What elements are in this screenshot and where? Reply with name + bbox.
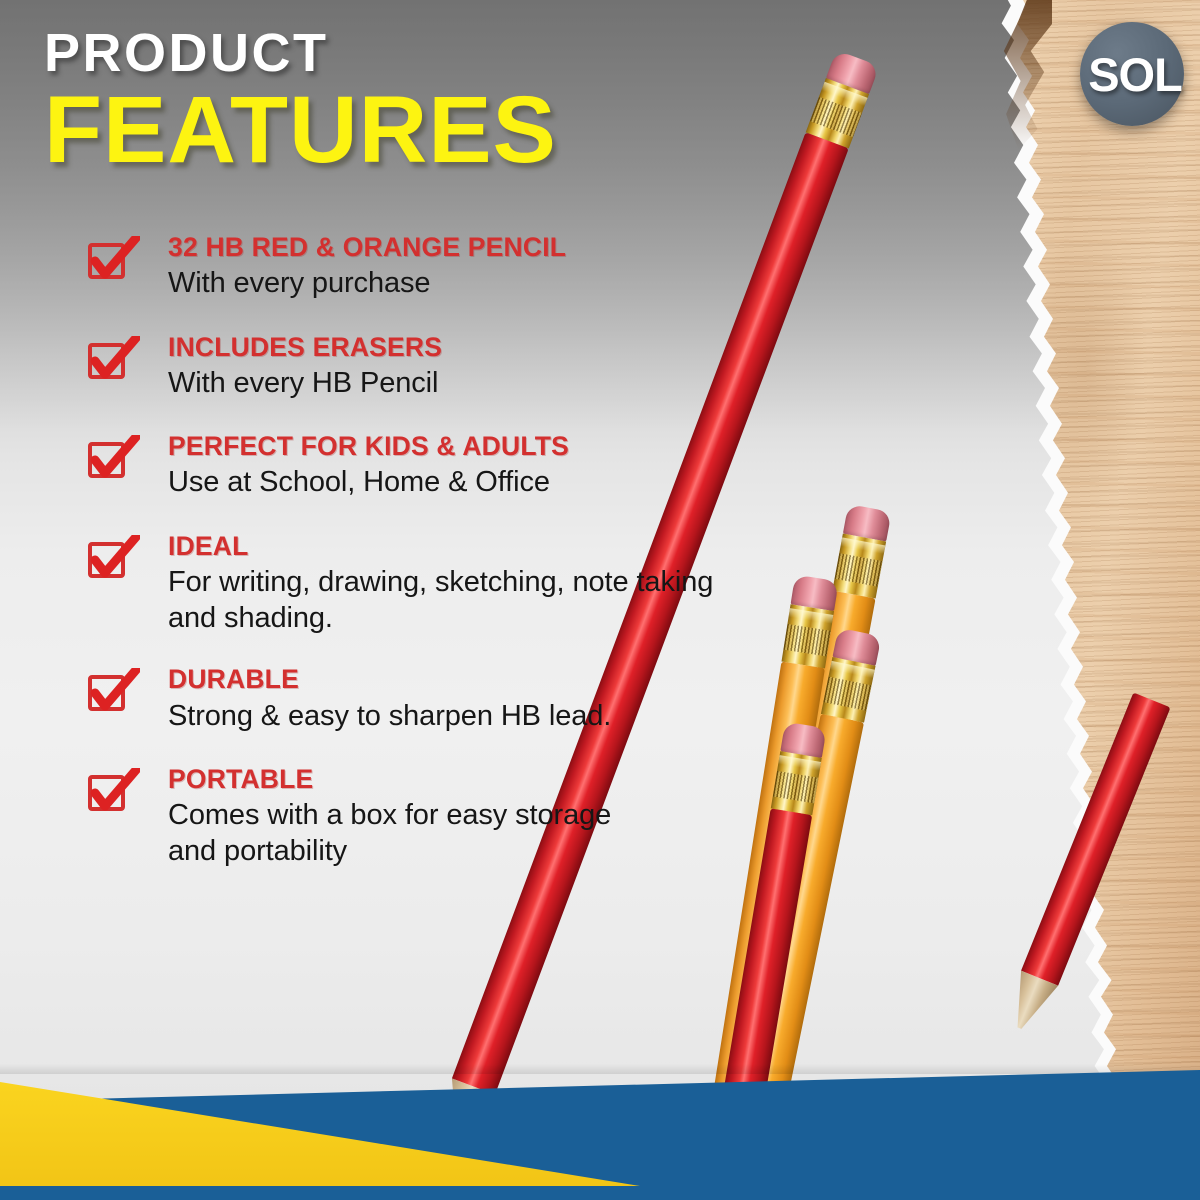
checkbox-checked-icon bbox=[86, 768, 140, 812]
feature-item: INCLUDES ERASERS With every HB Pencil bbox=[86, 332, 746, 402]
checkbox-checked-icon bbox=[86, 535, 140, 579]
feature-description: For writing, drawing, sketching, note ta… bbox=[168, 564, 738, 637]
feature-description: Strong & easy to sharpen HB lead. bbox=[168, 698, 678, 734]
feature-item: PORTABLE Comes with a box for easy stora… bbox=[86, 764, 746, 870]
title-line-features: FEATURES bbox=[44, 83, 557, 178]
title-line-product: PRODUCT bbox=[44, 26, 557, 81]
feature-item: 32 HB RED & ORANGE PENCIL With every pur… bbox=[86, 232, 746, 302]
feature-description: With every HB Pencil bbox=[168, 365, 746, 401]
logo-text: SOL bbox=[1088, 47, 1182, 102]
feature-item: DURABLE Strong & easy to sharpen HB lead… bbox=[86, 664, 746, 734]
feature-item: PERFECT FOR KIDS & ADULTS Use at School,… bbox=[86, 431, 746, 501]
feature-list: 32 HB RED & ORANGE PENCIL With every pur… bbox=[86, 232, 746, 900]
page-title: PRODUCT FEATURES bbox=[44, 26, 557, 178]
feature-title: IDEAL bbox=[168, 531, 746, 562]
pencil-ferrule bbox=[782, 604, 835, 668]
feature-title: PERFECT FOR KIDS & ADULTS bbox=[168, 431, 746, 462]
feature-description: With every purchase bbox=[168, 265, 746, 301]
checkbox-checked-icon bbox=[86, 668, 140, 712]
checkbox-checked-icon bbox=[86, 435, 140, 479]
feature-description: Comes with a box for easy storage and po… bbox=[168, 797, 658, 870]
sol-logo[interactable]: SOL bbox=[1080, 22, 1184, 126]
feature-description: Use at School, Home & Office bbox=[168, 464, 746, 500]
feature-title: DURABLE bbox=[168, 664, 746, 695]
checkbox-checked-icon bbox=[86, 336, 140, 380]
feature-title: 32 HB RED & ORANGE PENCIL bbox=[168, 232, 746, 263]
feature-item: IDEAL For writing, drawing, sketching, n… bbox=[86, 531, 746, 637]
checkbox-checked-icon bbox=[86, 236, 140, 280]
feature-title: INCLUDES ERASERS bbox=[168, 332, 746, 363]
infographic-canvas: SOL PRODUCT FEATURES 32 HB RED & ORANGE … bbox=[0, 0, 1200, 1200]
feature-title: PORTABLE bbox=[168, 764, 746, 795]
pencil-ferrule bbox=[832, 533, 886, 598]
